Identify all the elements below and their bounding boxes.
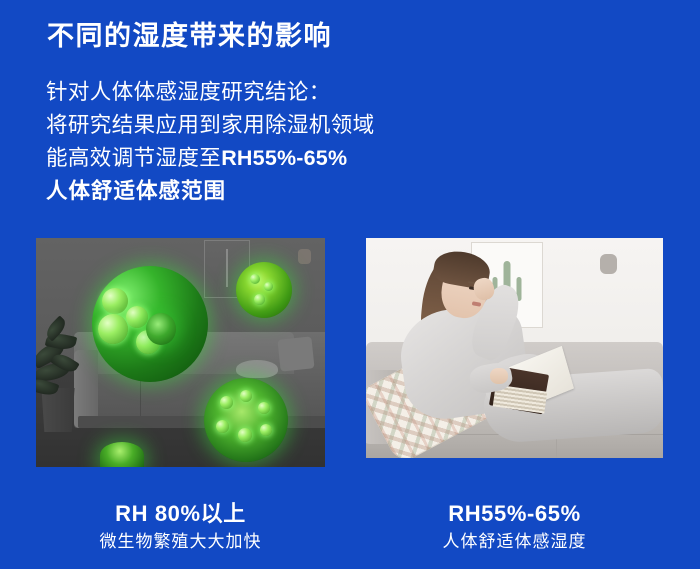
body-line-4: 人体舒适体感范围	[46, 175, 375, 208]
panel-high-humidity-image	[36, 238, 325, 467]
dark-sofa-pillow	[236, 360, 278, 378]
wall-speaker-icon	[600, 254, 617, 274]
body-line-3-prefix: 能高效调节湿度至	[46, 146, 221, 170]
microbe-cluster-floor	[204, 378, 288, 462]
body-line-1: 针对人体体感湿度研究结论：	[46, 76, 375, 109]
microbe-dot	[240, 390, 252, 402]
dark-sofa-cushion	[277, 336, 314, 371]
microbe-cluster-wall	[236, 262, 292, 318]
wall-speaker-icon	[298, 249, 311, 264]
microbe-dot	[258, 402, 270, 414]
woman-hand	[490, 368, 508, 384]
microbe-dot	[254, 294, 265, 305]
caption-title: RH 80%以上	[36, 500, 325, 527]
microbe-dot	[102, 288, 128, 314]
microbe-dot	[98, 314, 128, 344]
caption-title: RH55%-65%	[366, 500, 663, 527]
microbe-dot	[216, 420, 229, 433]
body-line-3-highlight: RH55%-65%	[221, 146, 347, 170]
microbe-dot	[238, 428, 252, 442]
microbe-cluster-edge	[100, 442, 144, 467]
infographic-page: 不同的湿度带来的影响 针对人体体感湿度研究结论： 将研究结果应用到家用除湿机领域…	[0, 0, 700, 569]
caption-subtitle: 人体舒适体感湿度	[366, 530, 663, 554]
caption-high-humidity: RH 80%以上 微生物繁殖大大加快	[36, 500, 325, 554]
microbe-dot	[126, 306, 148, 328]
microbe-dot	[250, 274, 260, 284]
caption-comfort-humidity: RH55%-65% 人体舒适体感湿度	[366, 500, 663, 554]
body-copy: 针对人体体感湿度研究结论： 将研究结果应用到家用除湿机领域 能高效调节湿度至RH…	[46, 76, 375, 208]
microbe-cluster-small	[146, 313, 176, 345]
microbe-dot	[220, 396, 233, 409]
page-title: 不同的湿度带来的影响	[47, 19, 332, 53]
caption-subtitle: 微生物繁殖大大加快	[36, 530, 325, 554]
microbe-dot	[264, 282, 273, 291]
panel-comfort-humidity-image	[366, 238, 663, 458]
body-line-3: 能高效调节湿度至RH55%-65%	[46, 142, 375, 175]
microbe-dot	[260, 424, 272, 436]
bright-room-scene	[366, 238, 663, 458]
body-line-2: 将研究结果应用到家用除湿机领域	[46, 109, 375, 142]
dark-room-scene	[36, 238, 325, 467]
